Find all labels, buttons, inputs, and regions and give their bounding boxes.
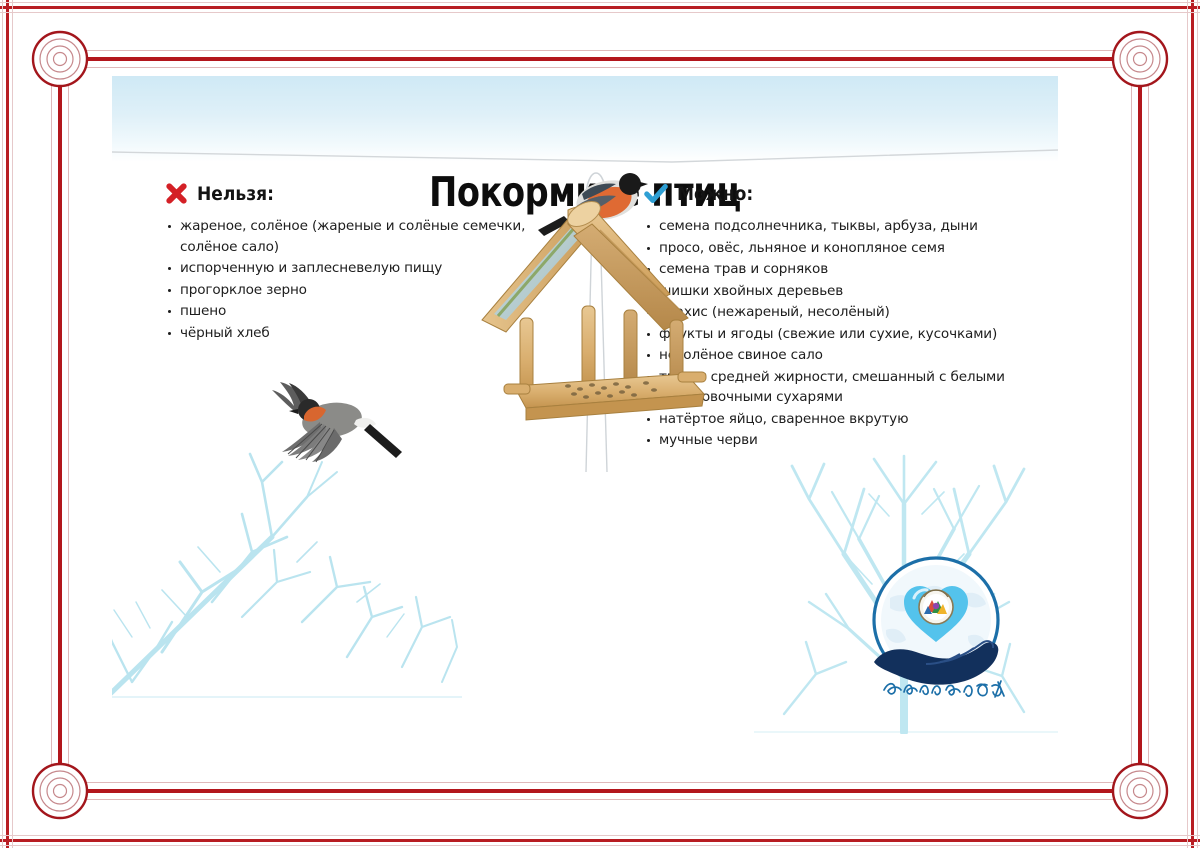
horizon-line [112,148,1058,170]
flying-bullfinch-image [264,376,404,471]
red-cross-icon [165,182,188,205]
forbidden-heading-label: Нельзя: [197,183,274,205]
inner-hairline-top-a [60,50,1140,51]
inner-hairline-left-a [51,60,52,790]
inner-frame-right [1138,60,1142,790]
corner-ornament-bottom-left [28,759,92,823]
outer-border-left [6,0,9,848]
winter-branches-left [112,442,462,702]
inner-frame-left [58,60,62,790]
outer-hairline-left-a [2,0,3,848]
inner-hairline-right-a [1131,60,1132,790]
outer-hairline-top-a [0,2,1200,3]
inner-hairline-top-b [60,67,1140,68]
corner-ornament-bottom-right [1108,759,1172,823]
poster-page: Покормите птиц Нельзя: жареное, солёное … [0,0,1200,848]
outer-hairline-bottom-a [0,845,1200,846]
inner-hairline-right-b [1148,60,1149,790]
outer-hairline-left-b [12,0,13,848]
outer-hairline-top-b [0,12,1200,13]
inner-frame-top [60,57,1140,61]
list-item: мучные черви [644,430,1036,451]
inner-hairline-left-b [68,60,69,790]
inner-frame-bottom [60,789,1140,793]
charity-hand-heart-logo [868,550,1008,700]
wooden-bird-feeder-image [464,168,724,428]
outer-hairline-right-b [1187,0,1188,848]
outer-border-right [1191,0,1194,848]
outer-hairline-right-a [1197,0,1198,848]
corner-ornament-top-left [28,27,92,91]
outer-border-bottom [0,839,1200,842]
inner-hairline-bottom-a [60,782,1140,783]
outer-border-top [0,6,1200,9]
inner-hairline-bottom-b [60,799,1140,800]
corner-ornament-top-right [1108,27,1172,91]
outer-hairline-bottom-b [0,835,1200,836]
